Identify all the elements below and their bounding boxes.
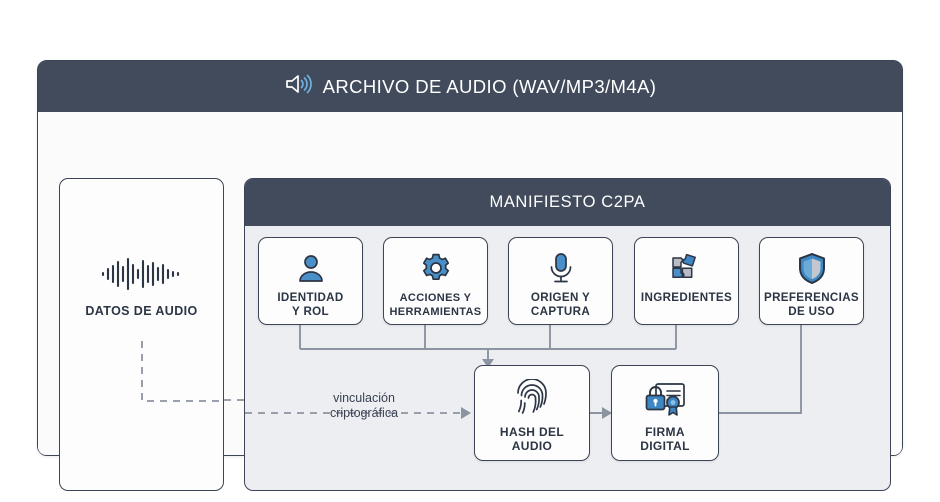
- audio-link-stub: [60, 179, 223, 490]
- card-ingredientes[interactable]: INGREDIENTES: [634, 237, 739, 325]
- card-preferencias-de-uso[interactable]: PREFERENCIAS DE USO: [759, 237, 864, 325]
- card-label: HASH DEL AUDIO: [497, 425, 567, 453]
- card-hash-del-audio[interactable]: HASH DEL AUDIO: [474, 365, 590, 461]
- microphone-icon: [546, 250, 576, 286]
- puzzle-icon: [670, 250, 704, 286]
- audio-waveform-icon: [60, 257, 223, 296]
- card-label: INGREDIENTES: [638, 291, 735, 305]
- card-label: ORIGEN Y CAPTURA: [528, 291, 593, 319]
- person-icon: [295, 250, 327, 286]
- audio-file-container: ARCHIVO DE AUDIO (WAV/MP3/M4A): [37, 60, 903, 456]
- card-identidad-y-rol[interactable]: IDENTIDAD Y ROL: [258, 237, 363, 325]
- card-acciones-y-herramientas[interactable]: ACCIONES Y HERRAMIENTAS: [383, 237, 488, 325]
- gear-icon: [420, 250, 452, 286]
- cryptographic-binding-label: vinculación criptográfica: [305, 391, 423, 421]
- fingerprint-icon: [514, 379, 550, 419]
- card-label: IDENTIDAD Y ROL: [274, 291, 346, 319]
- card-label: PREFERENCIAS DE USO: [761, 291, 862, 319]
- lock-certificate-icon: [643, 379, 687, 419]
- audio-data-label: DATOS DE AUDIO: [60, 303, 223, 319]
- audio-file-body: DATOS DE AUDIO MANIFIESTO C2PA: [38, 112, 902, 455]
- card-label: ACCIONES Y HERRAMIENTAS: [387, 291, 485, 319]
- speaker-audio-icon: [284, 72, 312, 101]
- card-label: FIRMA DIGITAL: [637, 425, 693, 453]
- diagram-canvas: ARCHIVO DE AUDIO (WAV/MP3/M4A): [0, 0, 940, 502]
- audio-file-header: ARCHIVO DE AUDIO (WAV/MP3/M4A): [38, 61, 902, 112]
- audio-data-panel: DATOS DE AUDIO: [59, 178, 224, 491]
- manifest-panel: MANIFIESTO C2PA: [244, 178, 891, 491]
- manifest-title: MANIFIESTO C2PA: [489, 193, 645, 212]
- manifest-header: MANIFIESTO C2PA: [245, 179, 890, 226]
- card-origen-y-captura[interactable]: ORIGEN Y CAPTURA: [508, 237, 613, 325]
- audio-file-title: ARCHIVO DE AUDIO (WAV/MP3/M4A): [323, 76, 657, 98]
- shield-icon: [797, 250, 827, 286]
- card-firma-digital[interactable]: FIRMA DIGITAL: [611, 365, 719, 461]
